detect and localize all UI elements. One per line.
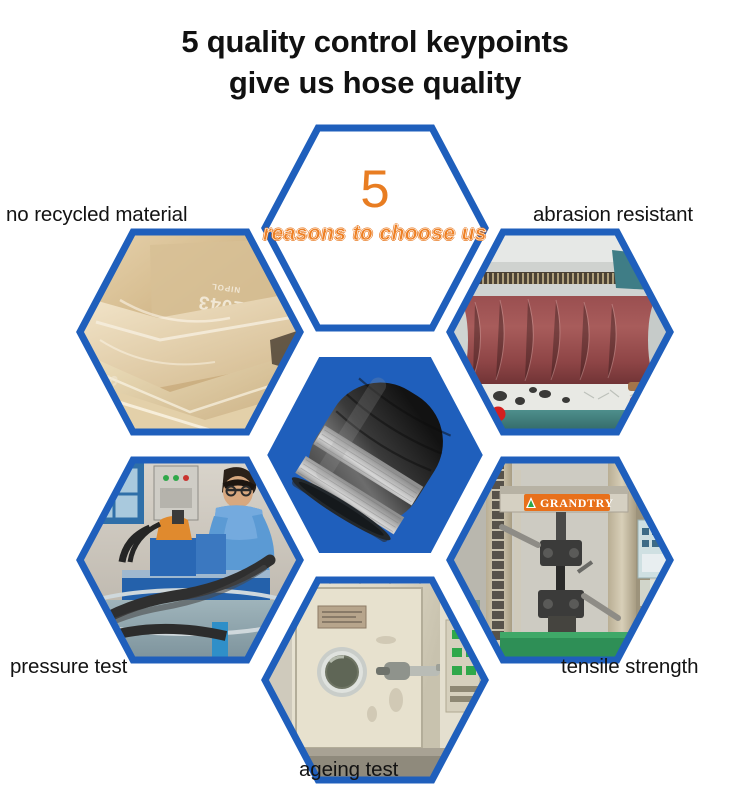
photo-ageing-oven	[265, 580, 485, 780]
infographic-root: 5 quality control keypoints give us hose…	[0, 0, 750, 800]
hexagon-south-east[interactable]: GRANDTRY	[450, 460, 672, 660]
hexagon-south-west[interactable]	[78, 460, 302, 660]
hexagon-svg: 1043 NIPOL NIPOL 1043	[0, 0, 750, 800]
label-ageing-test: ageing test	[299, 758, 398, 782]
hexagon-north-east[interactable]	[444, 232, 672, 434]
hexagon-honeycomb: 1043 NIPOL NIPOL 1043	[0, 0, 750, 800]
photo-raw-material: 1043 NIPOL NIPOL 1043	[80, 232, 300, 432]
hexagon-north-west[interactable]: 1043 NIPOL NIPOL 1043	[80, 232, 300, 432]
hexagon-south[interactable]	[265, 580, 485, 780]
label-no-recycled-material: no recycled material	[6, 203, 187, 227]
tensile-brand-text: GRANDTRY	[540, 496, 614, 510]
hexagon-center[interactable]	[265, 355, 485, 555]
label-abrasion-resistant: abrasion resistant	[533, 203, 693, 227]
label-tensile-strength: tensile strength	[561, 655, 698, 679]
photo-abrasion-machine	[444, 232, 672, 434]
photo-pressure-test	[78, 460, 302, 660]
label-pressure-test: pressure test	[10, 655, 127, 679]
